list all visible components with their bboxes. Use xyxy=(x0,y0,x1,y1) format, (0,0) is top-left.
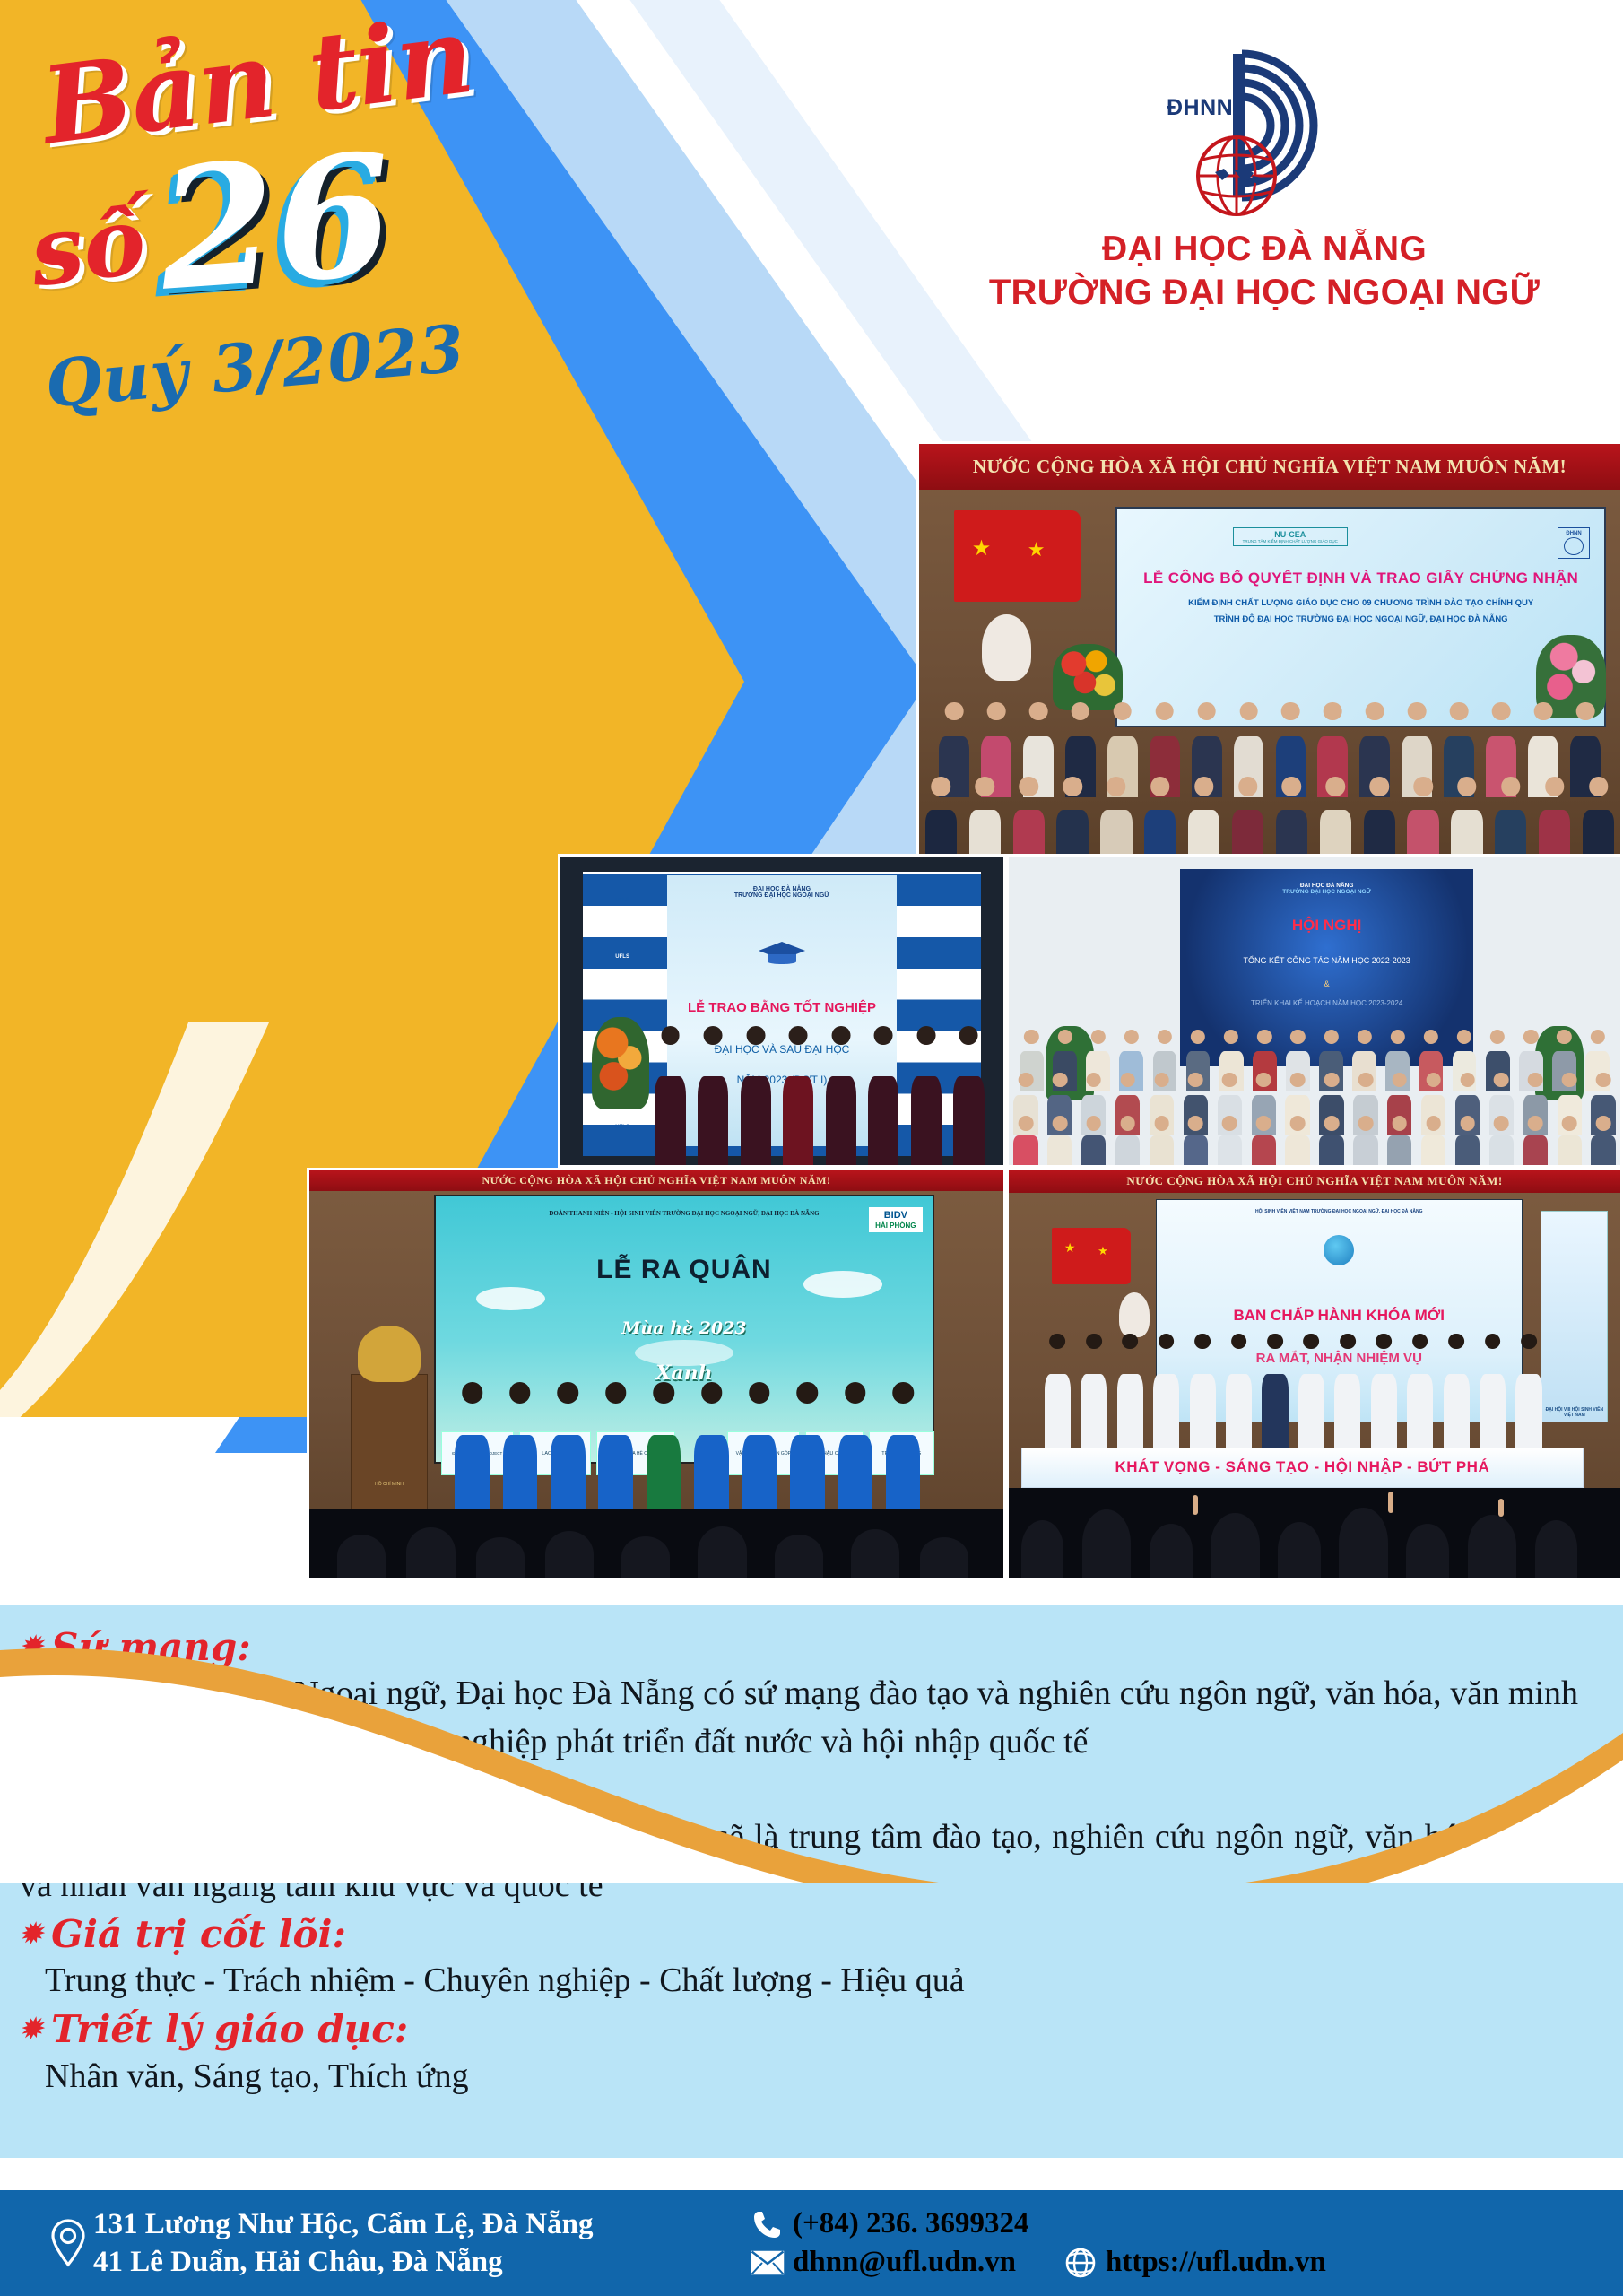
conf-screen-sub3: TRIỂN KHAI KẾ HOẠCH NĂM HỌC 2023-2024 xyxy=(1180,999,1473,1007)
stage-slogan-text: KHÁT VỌNG - SÁNG TẠO - HỘI NHẬP - BỨT PH… xyxy=(1115,1458,1489,1476)
footer-contact-bar: 131 Lương Như Hộc, Cẩm Lệ, Đà Nẵng 41 Lê… xyxy=(0,2190,1623,2296)
footer-address-lines: 131 Lương Như Hộc, Cẩm Lệ, Đà Nẵng 41 Lê… xyxy=(93,2205,594,2281)
raq-hall-banner: NƯỚC CỘNG HÒA XÃ HỘI CHỦ NGHĨA VIỆT NAM … xyxy=(309,1170,1003,1191)
photo-annual-conference: ĐẠI HỌC ĐÀ NẴNG TRƯỜNG ĐẠI HỌC NGOẠI NGỮ… xyxy=(1006,854,1623,1168)
conf-screen-org2: TRƯỜNG ĐẠI HỌC NGOẠI NGỮ xyxy=(1180,889,1473,895)
brand-block: ĐHNN ĐẠI HỌC ĐÀ NẴNG TRƯỜNG ĐẠI HỌC NGOẠ… xyxy=(942,43,1587,314)
wave-divider xyxy=(0,1525,1623,1883)
grad-screen-title: LỄ TRAO BẰNG TỐT NGHIỆP xyxy=(667,1000,898,1015)
photo-graduation-ceremony: UFLS UFLS UFLS UFLS UFLS ĐẠI HỌC ĐÀ NẴNG… xyxy=(558,854,1006,1168)
photo-student-union-congress: NƯỚC CỘNG HÒA XÃ HỘI CHỦ NGHĨA VIỆT NAM … xyxy=(1006,1168,1623,1580)
screen-subtitle-2: TRÌNH ĐỘ ĐẠI HỌC TRƯỜNG ĐẠI HỌC NGOẠI NG… xyxy=(1214,614,1508,624)
mortarboard-icon xyxy=(757,940,807,973)
flower-arrangement xyxy=(592,1017,649,1109)
core-values-body: Trung thực - Trách nhiệm - Chuyên nghiệp… xyxy=(20,1957,1587,2005)
footer-address-line2: 41 Lê Duẩn, Hải Châu, Đà Nẵng xyxy=(93,2243,594,2281)
raq-screen-title: LỄ RA QUÂN xyxy=(436,1255,932,1285)
philosophy-body: Nhân văn, Sáng tạo, Thích ứng xyxy=(20,2053,1587,2101)
student-union-emblem xyxy=(1324,1235,1354,1265)
globe-icon xyxy=(1055,2248,1106,2278)
screen-subtitle-1: KIỂM ĐỊNH CHẤT LƯỢNG GIÁO DỤC CHO 09 CHƯ… xyxy=(1188,598,1533,608)
footer-contact-group: (+84) 236. 3699324 dhnn@ufl.udn.vn xyxy=(742,2207,1326,2279)
raq-screen-sub2: Xanh xyxy=(436,1361,932,1385)
raq-screen-org: ĐOÀN THANH NIÊN - HỘI SINH VIÊN TRƯỜNG Đ… xyxy=(436,1210,932,1217)
podium: HỒ CHÍ MINH xyxy=(351,1374,427,1512)
flower-bullet-icon: ✹ xyxy=(20,2016,42,2043)
logo-wrap: ĐHNN xyxy=(942,43,1587,222)
sponsor-block: BIDV HẢI PHÒNG xyxy=(869,1207,922,1232)
podium-label: HỒ CHÍ MINH xyxy=(358,1482,421,1487)
vietnam-party-flag: ★ ★ xyxy=(954,510,1081,602)
footer-phone-row[interactable]: (+84) 236. 3699324 xyxy=(742,2207,1326,2240)
raised-hand xyxy=(1388,1492,1393,1513)
bch-party-flag: ★ ★ xyxy=(1052,1228,1132,1285)
footer-top-strip xyxy=(0,2158,1623,2190)
screen-dhnn-logo: ĐHNN xyxy=(1564,531,1584,536)
masthead: Bản tin số 26 Quý 3/2023 xyxy=(0,54,556,400)
footer-website-text: https://ufl.udn.vn xyxy=(1106,2246,1326,2279)
core-values-heading-text: Giá trị cốt lõi: xyxy=(51,1914,346,1955)
conf-screen-sub1: TỔNG KẾT CÔNG TÁC NĂM HỌC 2022-2023 xyxy=(1180,956,1473,965)
dhnn-globe-logo: ĐHNN xyxy=(1170,43,1358,219)
university-name: ĐẠI HỌC ĐÀ NẴNG TRƯỜNG ĐẠI HỌC NGOẠI NGỮ xyxy=(942,228,1587,314)
hall-banner-text: NƯỚC CỘNG HÒA XÃ HỘI CHỦ NGHĨA VIỆT NAM … xyxy=(919,444,1620,490)
grad-screen-org2: TRƯỜNG ĐẠI HỌC NGOẠI NGỮ xyxy=(667,892,898,899)
photo-green-summer-launch: NƯỚC CỘNG HÒA XÃ HỘI CHỦ NGHĨA VIỆT NAM … xyxy=(307,1168,1006,1580)
logo-text: ĐHNN xyxy=(1167,95,1233,121)
conf-screen-title: HỘI NGHỊ xyxy=(1180,917,1473,935)
attendee-row-front xyxy=(919,777,1620,863)
bch-screen-title: BAN CHẤP HÀNH KHÓA MỚI xyxy=(1157,1307,1522,1325)
issue-label: số xyxy=(25,196,150,298)
side-roll-banner: ĐẠI HỘI VIII HỘI SINH VIÊN VIỆT NAM xyxy=(1541,1211,1608,1422)
university-name-line1: ĐẠI HỌC ĐÀ NẴNG xyxy=(942,228,1587,271)
section-heading-philosophy: ✹ Triết lý giáo dục: xyxy=(20,2009,1587,2050)
issue-row: số 26 xyxy=(30,154,556,291)
ho-chi-minh-bust xyxy=(982,614,1031,681)
raq-screen-sub1: Mùa hè 2023 xyxy=(436,1318,932,1338)
screen-main-title: LỄ CÔNG BỐ QUYẾT ĐỊNH VÀ TRAO GIẤY CHỨNG… xyxy=(1143,570,1578,587)
grad-screen-org1: ĐẠI HỌC ĐÀ NẴNG xyxy=(667,886,898,892)
footer-phone-text: (+84) 236. 3699324 xyxy=(793,2207,1029,2240)
section-heading-core-values: ✹ Giá trị cốt lõi: xyxy=(20,1914,1587,1955)
nucea-logo-text: NU-CEA xyxy=(1243,530,1338,539)
staff-row-front xyxy=(1009,1116,1620,1168)
footer-address-group: 131 Lương Như Hộc, Cẩm Lệ, Đà Nẵng 41 Lê… xyxy=(43,2205,742,2281)
phone-icon xyxy=(742,2209,793,2239)
bch-hall-banner: NƯỚC CỘNG HÒA XÃ HỘI CHỦ NGHĨA VIỆT NAM … xyxy=(1009,1170,1620,1193)
nucea-sub-text: TRUNG TÂM KIỂM ĐỊNH CHẤT LƯỢNG GIÁO DỤC xyxy=(1243,539,1338,544)
issue-number: 26 xyxy=(155,146,396,299)
raised-hand xyxy=(1498,1499,1504,1517)
flower-bouquet xyxy=(1053,644,1123,710)
sponsor-haiphong: HẢI PHÒNG xyxy=(875,1222,916,1230)
graduate-row xyxy=(649,1026,990,1165)
newsletter-cover: Bản tin số 26 Quý 3/2023 xyxy=(0,0,1623,2296)
flower-bullet-icon: ✹ xyxy=(20,1921,42,1948)
university-name-line2: TRƯỜNG ĐẠI HỌC NGOẠI NGỮ xyxy=(942,271,1587,315)
footer-address-line1: 131 Lương Như Hộc, Cẩm Lệ, Đà Nẵng xyxy=(93,2205,594,2243)
bch-screen-org: HỘI SINH VIÊN VIỆT NAM TRƯỜNG ĐẠI HỌC NG… xyxy=(1157,1209,1522,1214)
photo-accreditation-ceremony: NƯỚC CỘNG HÒA XÃ HỘI CHỦ NGHĨA VIỆT NAM … xyxy=(916,441,1623,863)
presentation-screen: NU-CEA TRUNG TÂM KIỂM ĐỊNH CHẤT LƯỢNG GI… xyxy=(1115,507,1606,727)
stage-slogan-banner: KHÁT VỌNG - SÁNG TẠO - HỘI NHẬP - BỨT PH… xyxy=(1021,1448,1584,1488)
statue xyxy=(358,1326,421,1383)
conf-screen-sub2: & xyxy=(1180,979,1473,988)
raised-hand xyxy=(1193,1495,1198,1515)
philosophy-heading-text: Triết lý giáo dục: xyxy=(51,2009,408,2050)
sponsor-bidv: BIDV xyxy=(875,1210,916,1222)
logo-graphic xyxy=(1170,43,1358,219)
bch-bust xyxy=(1119,1292,1150,1337)
committee-row xyxy=(1039,1334,1547,1448)
map-pin-icon xyxy=(43,2218,93,2268)
envelope-icon xyxy=(742,2250,793,2275)
volunteer-row xyxy=(448,1382,927,1528)
footer-email-text: dhnn@ufl.udn.vn xyxy=(793,2246,1016,2279)
footer-email-web-row[interactable]: dhnn@ufl.udn.vn https://ufl.udn.vn xyxy=(742,2246,1326,2279)
